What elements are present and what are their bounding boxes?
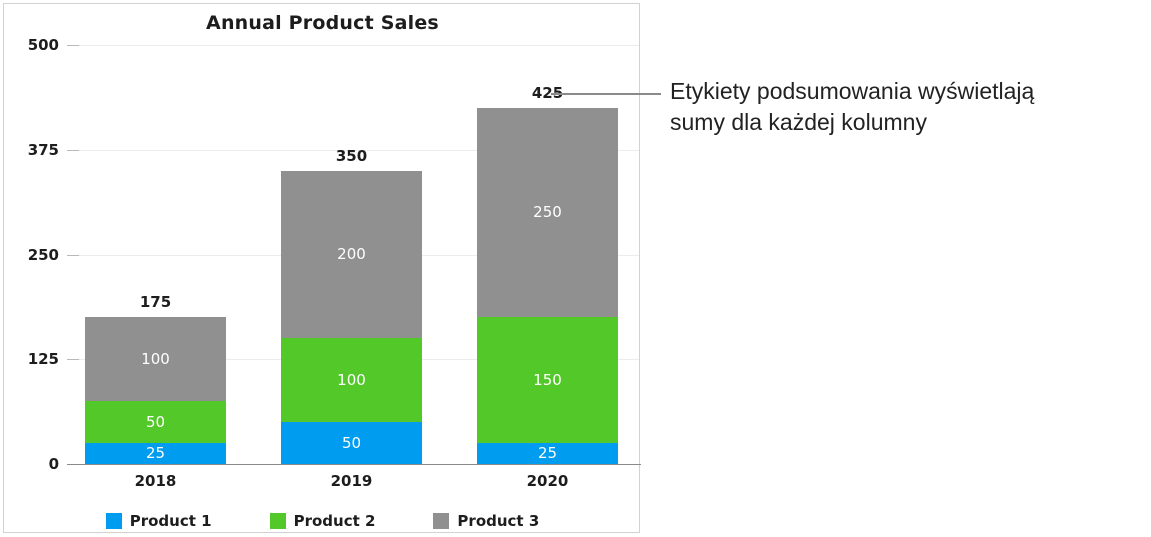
chart-title: Annual Product Sales <box>4 12 641 34</box>
ytick-label-375: 375 <box>1 141 59 159</box>
legend-label-product-1: Product 1 <box>130 512 212 530</box>
bar-stack-2018[interactable]: 1005025 <box>85 317 226 464</box>
segment-value-label: 100 <box>141 352 170 367</box>
ytick-dash-500 <box>67 45 79 46</box>
callout-line-1: Etykiety podsumowania wyświetlają <box>670 76 1140 107</box>
bar-group-2019[interactable]: 200100503502019 <box>281 45 422 464</box>
segment-value-label: 25 <box>146 446 165 461</box>
bar-segment-2018-product-3[interactable]: 100 <box>85 317 226 401</box>
bar-segment-2020-product-1[interactable]: 25 <box>477 443 618 464</box>
ytick-dash-125 <box>67 359 79 360</box>
segment-value-label: 200 <box>337 247 366 262</box>
bar-segment-2019-product-1[interactable]: 50 <box>281 422 422 464</box>
legend-item-product-1[interactable]: Product 1 <box>106 512 212 530</box>
legend-item-product-2[interactable]: Product 2 <box>270 512 376 530</box>
axis-baseline <box>67 464 641 465</box>
bar-segment-2018-product-1[interactable]: 25 <box>85 443 226 464</box>
ytick-label-500: 500 <box>1 36 59 54</box>
total-label-2018: 175 <box>85 293 226 311</box>
bar-stack-2020[interactable]: 25015025 <box>477 108 618 464</box>
xtick-label-2018: 2018 <box>85 472 226 490</box>
bar-segment-2020-product-2[interactable]: 150 <box>477 317 618 443</box>
chart-legend: Product 1 Product 2 Product 3 <box>4 512 641 530</box>
xtick-label-2019: 2019 <box>281 472 422 490</box>
total-label-2019: 350 <box>281 147 422 165</box>
bar-segment-2018-product-2[interactable]: 50 <box>85 401 226 443</box>
segment-value-label: 25 <box>538 446 557 461</box>
bar-stack-2019[interactable]: 20010050 <box>281 171 422 464</box>
legend-swatch-product-1 <box>106 513 122 529</box>
callout-line-2: sumy dla każdej kolumny <box>670 107 1140 138</box>
ytick-dash-250 <box>67 255 79 256</box>
bar-segment-2019-product-2[interactable]: 100 <box>281 338 422 422</box>
callout-leader-line <box>551 93 661 95</box>
segment-value-label: 250 <box>533 205 562 220</box>
segment-value-label: 100 <box>337 373 366 388</box>
bar-segment-2019-product-3[interactable]: 200 <box>281 171 422 339</box>
legend-swatch-product-2 <box>270 513 286 529</box>
ytick-dash-375 <box>67 150 79 151</box>
segment-value-label: 50 <box>342 436 361 451</box>
legend-label-product-2: Product 2 <box>294 512 376 530</box>
ytick-label-0: 0 <box>1 455 59 473</box>
ytick-label-250: 250 <box>1 246 59 264</box>
bar-segment-2020-product-3[interactable]: 250 <box>477 108 618 318</box>
ytick-label-125: 125 <box>1 350 59 368</box>
legend-item-product-3[interactable]: Product 3 <box>433 512 539 530</box>
legend-label-product-3: Product 3 <box>457 512 539 530</box>
segment-value-label: 150 <box>533 373 562 388</box>
chart-container: Annual Product Sales 0125250375500100502… <box>3 3 640 533</box>
bar-group-2020[interactable]: 250150254252020 <box>477 45 618 464</box>
bar-group-2018[interactable]: 10050251752018 <box>85 45 226 464</box>
segment-value-label: 50 <box>146 415 165 430</box>
callout-annotation-text: Etykiety podsumowania wyświetlają sumy d… <box>670 76 1140 138</box>
legend-swatch-product-3 <box>433 513 449 529</box>
xtick-label-2020: 2020 <box>477 472 618 490</box>
plot-area: 0125250375500100502517520182001005035020… <box>79 45 639 464</box>
